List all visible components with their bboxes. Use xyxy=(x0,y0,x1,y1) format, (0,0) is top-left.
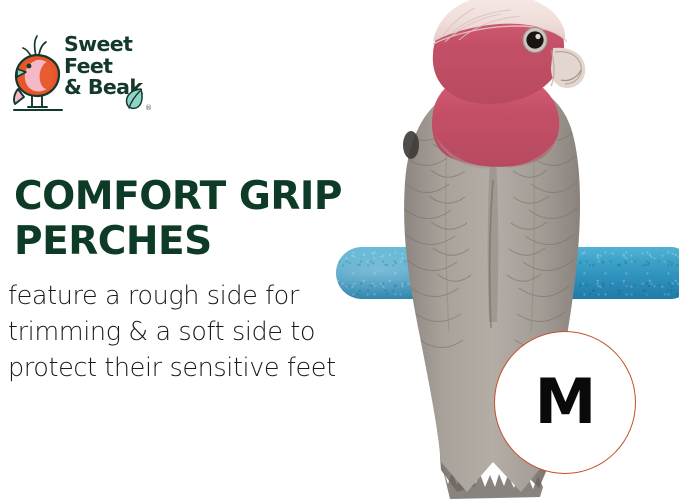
cockatoo-bird-logo-icon xyxy=(12,34,64,118)
subcopy-line-3: protect their sensitive feet xyxy=(8,350,378,386)
wordmark-line-1: Sweet xyxy=(64,34,172,56)
product-description: feature a rough side for trimming & a so… xyxy=(8,278,378,386)
brand-wordmark: Sweet Feet & Beak xyxy=(64,34,172,99)
wordmark-line-2: Feet xyxy=(64,56,172,78)
wordmark-line-3: & Beak xyxy=(64,77,172,99)
headline-line-1: COMFORT GRIP xyxy=(14,174,404,219)
brand-logo[interactable]: Sweet Feet & Beak ® xyxy=(12,30,177,120)
registered-trademark-symbol: ® xyxy=(145,104,152,112)
size-badge: M xyxy=(494,331,636,474)
size-badge-label: M xyxy=(535,371,596,433)
product-feature-banner: Sweet Feet & Beak ® COMFORT GRIP PERCHES… xyxy=(0,0,679,504)
subcopy-line-1: feature a rough side for xyxy=(8,278,378,314)
subcopy-line-2: trimming & a soft side to xyxy=(8,314,378,350)
leaf-icon xyxy=(124,87,144,111)
